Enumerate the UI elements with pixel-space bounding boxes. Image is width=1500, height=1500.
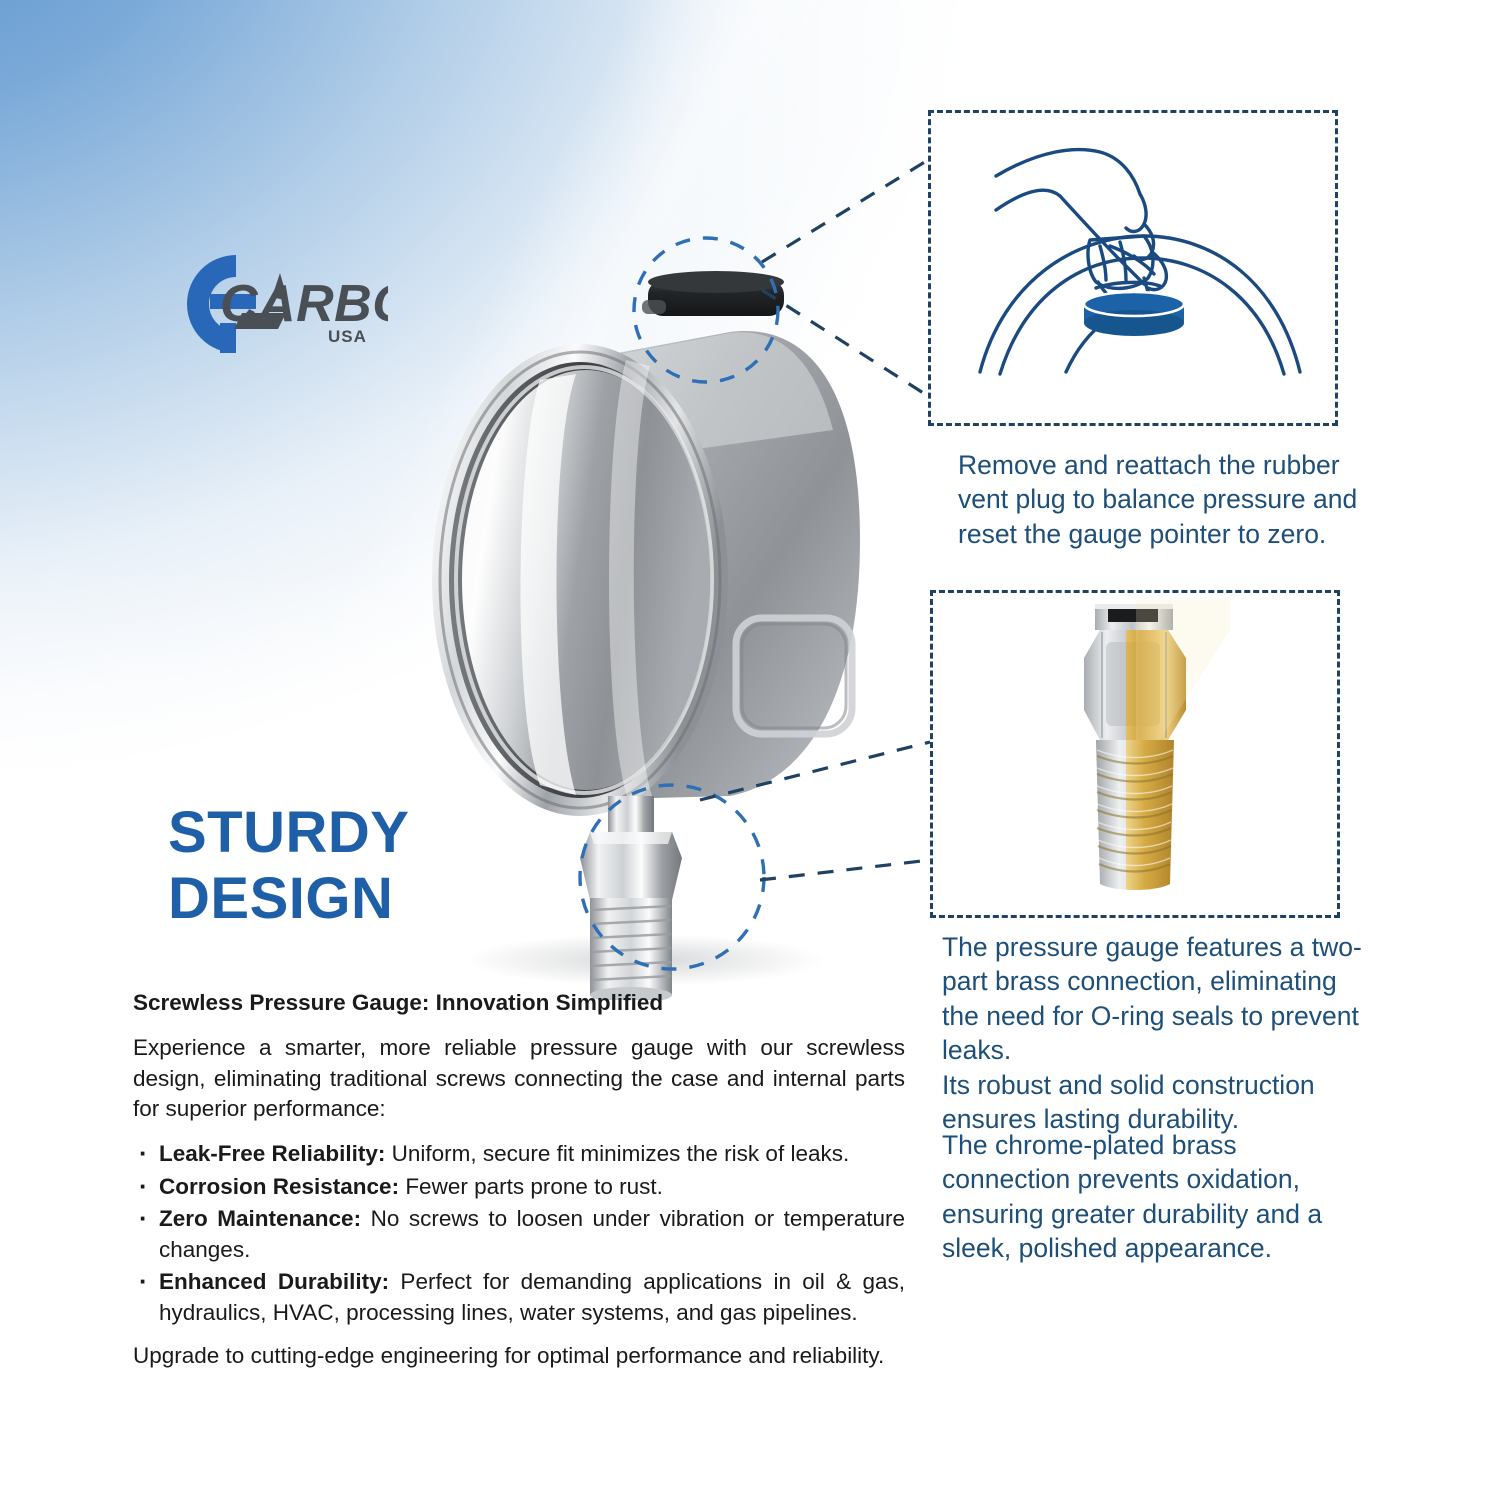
left-body-column: Screwless Pressure Gauge: Innovation Sim… [133,988,905,1371]
list-item: Leak-Free Reliability: Uniform, secure f… [133,1139,905,1170]
vent-plug-caption: Remove and reattach the rubber vent plug… [958,448,1358,551]
chrome-plating-caption: The chrome-plated brass connection preve… [942,1128,1346,1266]
list-item: Zero Maintenance: No screws to loosen un… [133,1204,905,1265]
body-closing: Upgrade to cutting-edge engineering for … [133,1341,905,1372]
infographic-page: CARBO USA [0,0,1500,1500]
brass-chrome-threaded-connector-icon [1040,600,1230,900]
brass-connection-caption: The pressure gauge features a two-part b… [942,930,1362,1137]
chrome-plating-caption-text: The chrome-plated brass connection preve… [942,1128,1346,1266]
logo-sub-usa: USA [328,327,367,346]
list-item: Enhanced Durability: Perfect for demandi… [133,1267,905,1328]
page-title-line2: DESIGN [168,866,588,932]
hand-removing-vent-plug-icon [948,128,1316,406]
page-title-line1: STURDY [168,800,588,866]
bullet-label: Enhanced Durability: [159,1269,389,1294]
bullet-text: Uniform, secure fit minimizes the risk o… [385,1141,849,1166]
list-item: Corrosion Resistance: Fewer parts prone … [133,1172,905,1203]
carbo-usa-logo: CARBO USA [168,245,388,363]
feature-bullet-list: Leak-Free Reliability: Uniform, secure f… [133,1139,905,1329]
vent-plug-caption-text: Remove and reattach the rubber vent plug… [958,448,1358,551]
brass-connection-caption-text-1: The pressure gauge features a two-part b… [942,930,1362,1068]
bullet-label: Corrosion Resistance: [159,1174,399,1199]
page-title: STURDY DESIGN [168,800,588,932]
bullet-label: Leak-Free Reliability: [159,1141,385,1166]
bullet-text: Fewer parts prone to rust. [399,1174,663,1199]
body-intro: Experience a smarter, more reliable pres… [133,1033,905,1125]
body-title: Screwless Pressure Gauge: Innovation Sim… [133,988,905,1017]
bullet-label: Zero Maintenance: [159,1206,361,1231]
brass-connection-caption-text-2: Its robust and solid construction ensure… [942,1068,1362,1137]
